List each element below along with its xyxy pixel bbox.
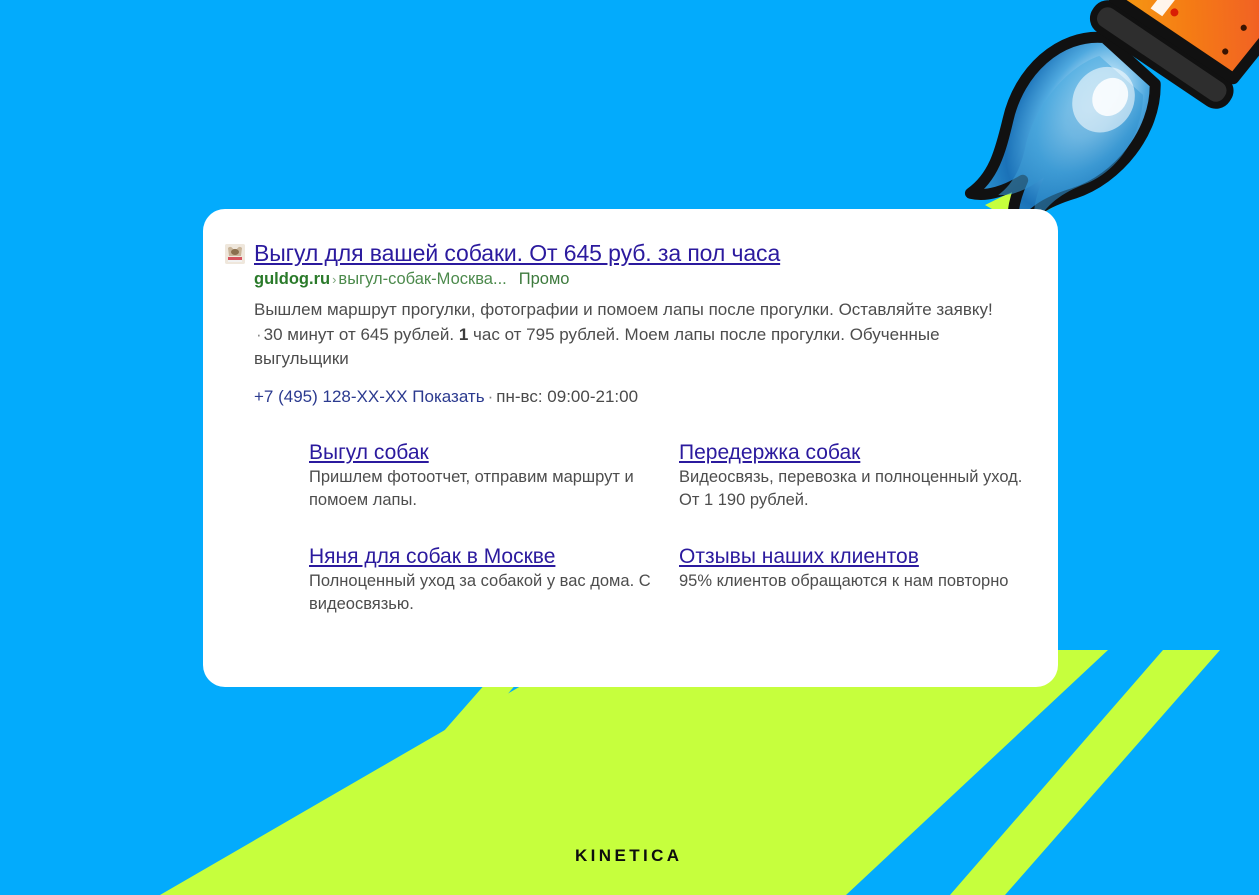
phone-number: +7 (495) 128-XX-XX [254, 387, 408, 406]
kinetica-wordmark: KINETICA [575, 846, 682, 866]
sitelink-description: Видеосвязь, перевозка и полноценный уход… [679, 466, 1024, 512]
sitelink-title[interactable]: Выгул собак [309, 441, 429, 464]
url-path: выгул-собак-Москва... [338, 270, 506, 288]
sitelink-description: Полноценный уход за собакой у вас дома. … [309, 570, 659, 616]
sitelink-item[interactable]: Отзывы наших клиентов 95% клиентов обращ… [679, 544, 1024, 616]
guldog-site-favicon [225, 244, 245, 264]
contact-row[interactable]: +7 (495) 128-XX-XX Показать·пн-вс: 09:00… [254, 386, 1024, 408]
sitelinks-grid: Выгул собак Пришлем фотоотчет, отправим … [309, 440, 1024, 616]
result-title-link[interactable]: Выгул для вашей собаки. От 645 руб. за п… [254, 239, 780, 267]
sitelink-item[interactable]: Няня для собак в Москве Полноценный уход… [309, 544, 679, 616]
sitelink-description: 95% клиентов обращаются к нам повторно [679, 570, 1024, 593]
snippet-separator: · [254, 325, 264, 344]
result-url-line[interactable]: guldog.ru›выгул-собак-Москва...Промо [254, 269, 1024, 290]
sitelink-item[interactable]: Выгул собак Пришлем фотоотчет, отправим … [309, 440, 679, 512]
result-header: Выгул для вашей собаки. От 645 руб. за п… [225, 239, 1024, 267]
business-hours: пн-вс: 09:00-21:00 [496, 387, 638, 406]
snippet-line-2a: Оставляйте заявку! [839, 300, 993, 319]
snippet-line-2b: 30 минут от 645 рублей. [264, 325, 454, 344]
promo-label: Промо [507, 270, 570, 288]
sitelink-title[interactable]: Передержка собак [679, 441, 860, 464]
sitelink-item[interactable]: Передержка собак Видеосвязь, перевозка и… [679, 440, 1024, 512]
url-domain: guldog.ru [254, 270, 330, 288]
sitelink-title[interactable]: Отзывы наших клиентов [679, 545, 919, 568]
snippet-line-2c: час от 795 рублей. Моем лапы [473, 325, 715, 344]
sitelink-title[interactable]: Няня для собак в Москве [309, 545, 555, 568]
result-snippet: Вышлем маршрут прогулки, фотографии и по… [254, 298, 1014, 372]
sitelink-description: Пришлем фотоотчет, отправим маршрут и по… [309, 466, 659, 512]
snippet-bold-one: 1 [459, 325, 468, 344]
screenshot-stage: Выгул для вашей собаки. От 645 руб. за п… [0, 0, 1259, 895]
snippet-line-1: Вышлем маршрут прогулки, фотографии и по… [254, 300, 834, 319]
search-result-card: Выгул для вашей собаки. От 645 руб. за п… [203, 209, 1058, 687]
show-phone-button[interactable]: Показать [412, 387, 484, 406]
contact-separator: · [485, 387, 497, 406]
